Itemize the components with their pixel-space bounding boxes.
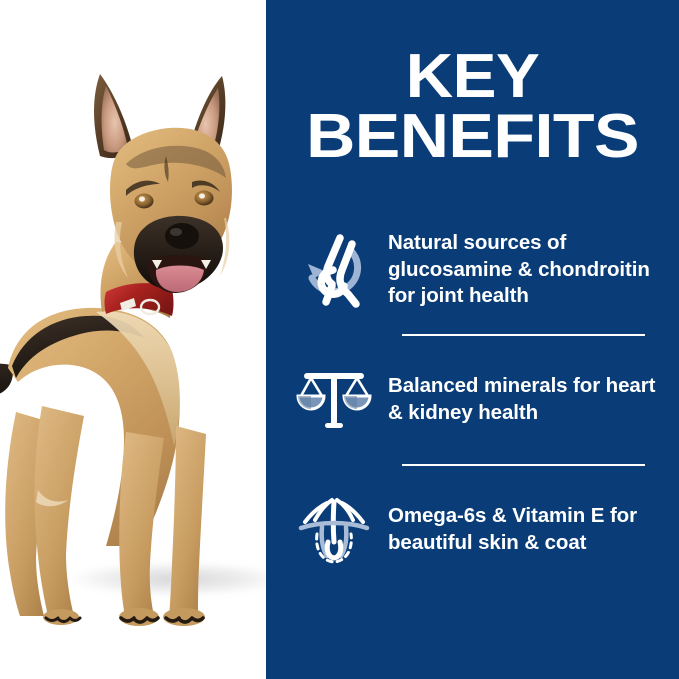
title-line-2: BENEFITS [266, 108, 679, 166]
benefit-item-joint-health: Natural sources of glucosamine & chondro… [266, 228, 679, 312]
benefit-list: Natural sources of glucosamine & chondro… [266, 228, 679, 572]
key-benefits-panel: KEY BENEFITS [0, 0, 679, 679]
dog-front-leg-right [169, 426, 206, 616]
benefit-text: Natural sources of glucosamine & chondro… [376, 230, 659, 310]
benefit-text: Omega-6s & Vitamin E for beautiful skin … [376, 503, 659, 556]
dog-paw-hind [43, 609, 79, 625]
hair-follicle-skin-icon [292, 488, 376, 572]
benefit-item-balanced-minerals: Balanced minerals for heart & kidney hea… [266, 358, 679, 442]
title-line-1: KEY [266, 48, 679, 106]
dog-illustration [0, 60, 250, 620]
dog-front-leg-left [119, 432, 164, 616]
product-pet-photo [0, 0, 266, 679]
benefit-item-skin-coat: Omega-6s & Vitamin E for beautiful skin … [266, 488, 679, 572]
page-title: KEY BENEFITS [266, 48, 679, 165]
dog-eye-left [135, 194, 154, 209]
dog-hind-leg-near [35, 406, 84, 616]
benefit-text: Balanced minerals for heart & kidney hea… [376, 373, 659, 426]
balance-scale-icon [292, 358, 376, 442]
joint-bone-rotation-icon [292, 228, 376, 312]
benefits-panel: KEY BENEFITS [266, 0, 679, 679]
dog-nose [165, 223, 199, 249]
dog-eye-right [195, 191, 214, 206]
